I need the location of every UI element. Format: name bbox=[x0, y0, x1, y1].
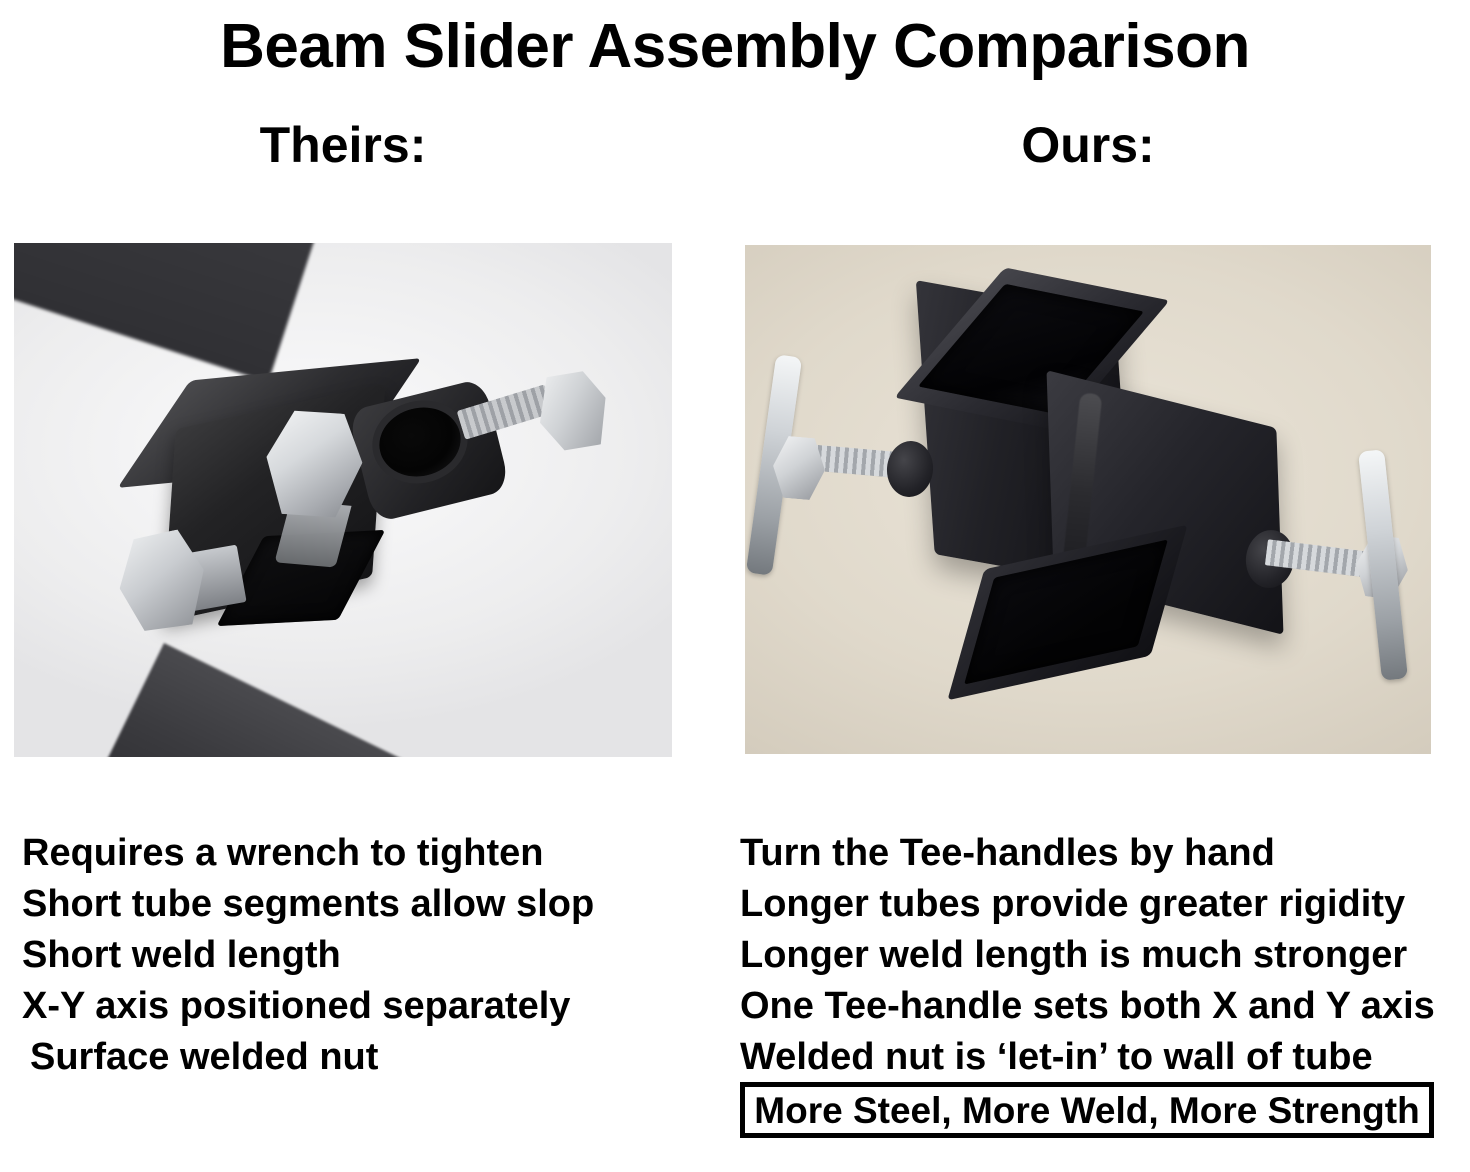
feature-item: Requires a wrench to tighten bbox=[22, 828, 594, 879]
welded-nut-boss-icon bbox=[885, 439, 936, 499]
feature-item: Turn the Tee-handles by hand bbox=[740, 828, 1435, 879]
feature-list-ours: Turn the Tee-handles by hand Longer tube… bbox=[740, 828, 1435, 1083]
tee-handle-left-icon bbox=[755, 355, 945, 595]
photo-theirs bbox=[14, 243, 672, 757]
feature-item: Surface welded nut bbox=[22, 1032, 594, 1083]
beam-slider-theirs-illustration bbox=[114, 353, 584, 683]
feature-item: X-Y axis positioned separately bbox=[22, 981, 594, 1032]
tee-handle-right-icon bbox=[1260, 450, 1431, 700]
feature-list-theirs: Requires a wrench to tighten Short tube … bbox=[22, 828, 594, 1083]
feature-item: Longer weld length is much stronger bbox=[740, 930, 1435, 981]
tagline-text: More Steel, More Weld, More Strength bbox=[754, 1092, 1419, 1129]
beam-slider-ours-illustration bbox=[865, 275, 1335, 725]
feature-item: Short tube segments allow slop bbox=[22, 879, 594, 930]
photo-ours bbox=[745, 245, 1431, 754]
column-heading-ours: Ours: bbox=[745, 118, 1431, 173]
feature-item: Welded nut is ‘let-in’ to wall of tube bbox=[740, 1032, 1435, 1083]
column-heading-theirs: Theirs: bbox=[14, 118, 672, 173]
page-title: Beam Slider Assembly Comparison bbox=[0, 14, 1470, 79]
tagline-box: More Steel, More Weld, More Strength bbox=[740, 1082, 1434, 1138]
feature-item: One Tee-handle sets both X and Y axis bbox=[740, 981, 1435, 1032]
feature-item: Short weld length bbox=[22, 930, 594, 981]
feature-item: Longer tubes provide greater rigidity bbox=[740, 879, 1435, 930]
